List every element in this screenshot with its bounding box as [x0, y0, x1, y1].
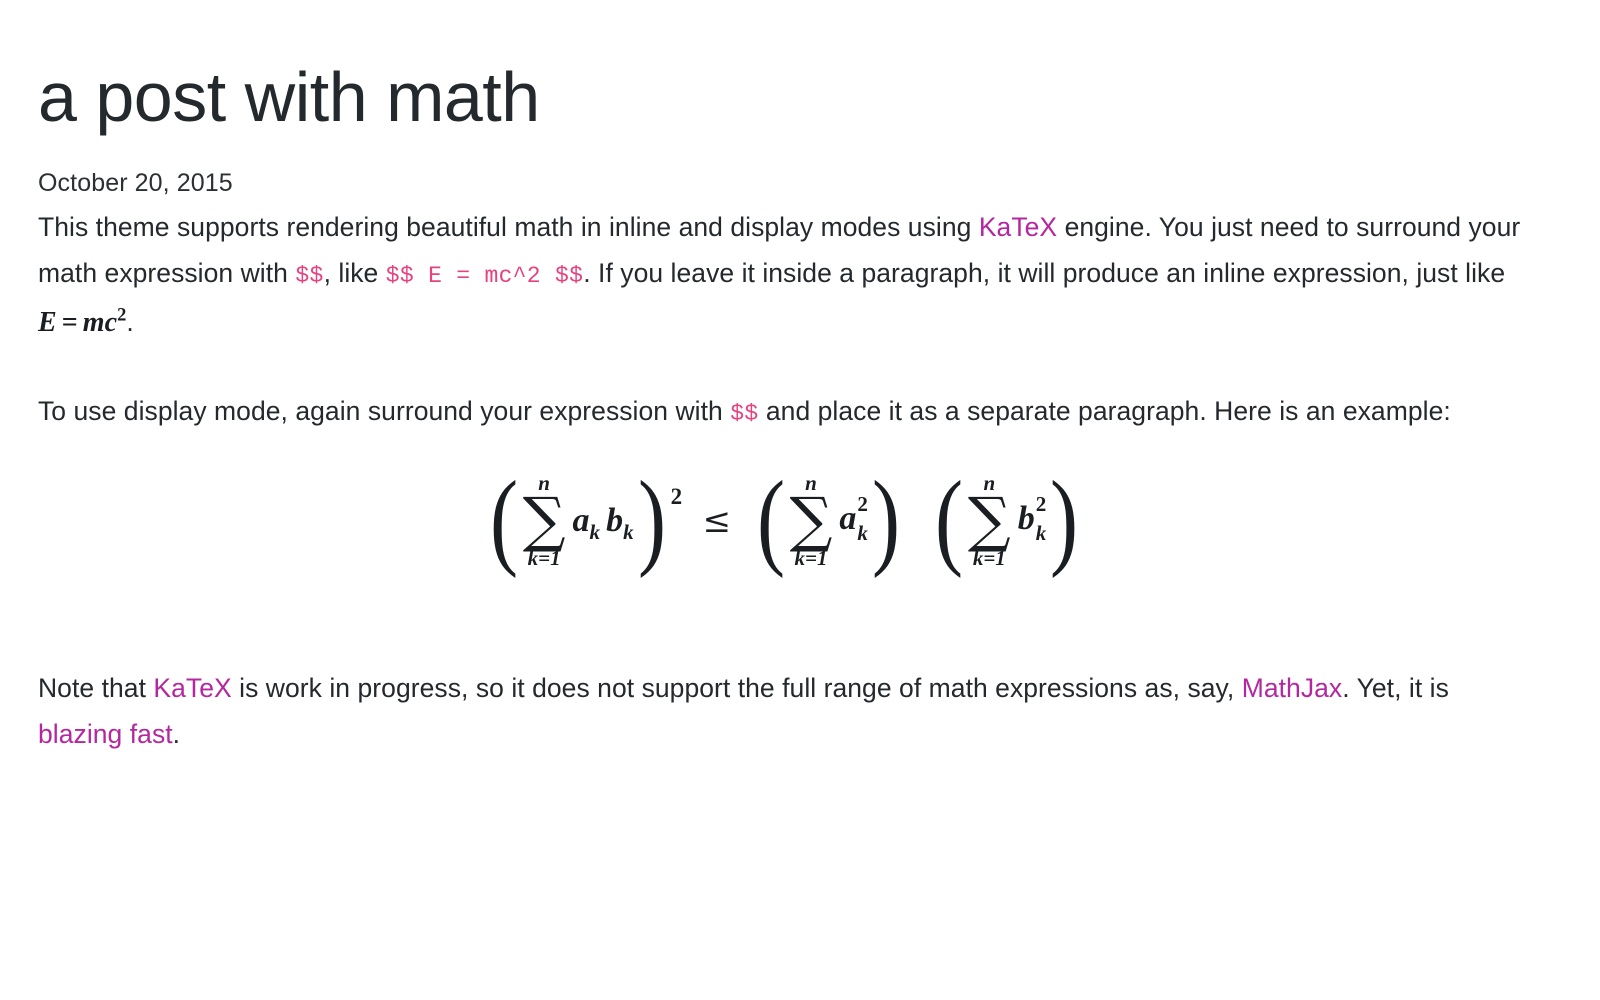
inline-math-mc: mc [83, 307, 117, 338]
display-math-cauchy-schwarz: ( n ∑ k=1 ak bk ) 2 ≤ ( n ∑ [486, 473, 1083, 569]
paragraph-intro-text-1: This theme supports rendering beautiful … [38, 212, 979, 242]
math-term-bk: bk [606, 504, 634, 538]
paragraph-intro-text-3: , like [324, 258, 386, 288]
math-term-a2k-base: a [839, 500, 856, 537]
code-dollar-delimiters: $$ [295, 263, 323, 289]
math-term-b-squared-k: b2k [1018, 500, 1047, 542]
paragraph-note-text-4: . [173, 719, 180, 749]
inline-math-emc2: E=mc2 [38, 300, 126, 346]
post-body: This theme supports rendering beautiful … [38, 198, 1530, 757]
math-term-ak: ak [573, 504, 601, 538]
math-right-paren-1: ) [638, 481, 666, 559]
math-term-a2k-sup: 2 [857, 494, 868, 515]
paragraph-display-text-1: To use display mode, again surround your… [38, 396, 730, 426]
sigma-icon: ∑ [523, 495, 566, 547]
link-blazing-fast[interactable]: blazing fast [38, 719, 173, 749]
paragraph-note-text-2: is work in progress, so it does not supp… [232, 673, 1242, 703]
link-katex-1[interactable]: KaTeX [979, 212, 1057, 242]
inline-math-equals: = [57, 307, 83, 338]
inline-math-E: E [38, 307, 57, 338]
math-term-b2k-sup: 2 [1036, 494, 1047, 515]
math-left-paren-2: ( [757, 481, 785, 559]
math-less-than-or-equal: ≤ [703, 501, 732, 541]
math-sum-2-lower: k=1 [795, 548, 828, 569]
math-term-b2k-scripts: 2k [1036, 500, 1047, 542]
math-sum-1: n ∑ k=1 [523, 473, 566, 569]
math-left-paren-3: ( [935, 481, 963, 559]
paragraph-display-text-2: and place it as a separate paragraph. He… [758, 396, 1450, 426]
math-right-paren-3: ) [1050, 481, 1078, 559]
sigma-icon: ∑ [790, 495, 833, 547]
math-group-1-exponent: 2 [671, 485, 683, 508]
math-group-3: ( n ∑ k=1 b2k ) [931, 473, 1082, 569]
math-group-1: ( n ∑ k=1 ak bk ) 2 [486, 473, 681, 569]
display-math-container: ( n ∑ k=1 ak bk ) 2 ≤ ( n ∑ [38, 473, 1530, 623]
paragraph-display-mode: To use display mode, again surround your… [38, 388, 1530, 437]
math-sum-1-lower: k=1 [528, 548, 561, 569]
math-sum-2: n ∑ k=1 [790, 473, 833, 569]
math-group-2: ( n ∑ k=1 a2k ) [753, 473, 904, 569]
paragraph-note-text-1: Note that [38, 673, 153, 703]
math-sum-3-lower: k=1 [973, 548, 1006, 569]
post-date: October 20, 2015 [38, 132, 1560, 198]
math-term-a2k-scripts: 2k [857, 500, 868, 542]
math-term-bk-sub: k [623, 520, 634, 544]
math-term-ak-base: a [573, 502, 590, 539]
paragraph-note-text-3: . Yet, it is [1342, 673, 1449, 703]
link-mathjax[interactable]: MathJax [1242, 673, 1343, 703]
paragraph-intro: This theme supports rendering beautiful … [38, 204, 1530, 346]
math-left-paren-1: ( [490, 481, 518, 559]
math-term-bk-base: b [606, 502, 623, 539]
math-term-b2k-sub: k [1036, 523, 1047, 544]
paragraph-intro-text-5: . [126, 307, 133, 337]
code-dollar-delimiters-2: $$ [730, 401, 758, 427]
math-term-a-squared-k: a2k [839, 500, 868, 542]
post-page: a post with math October 20, 2015 This t… [0, 0, 1600, 1000]
page-title: a post with math [38, 0, 1560, 132]
paragraph-note: Note that KaTeX is work in progress, so … [38, 665, 1530, 757]
inline-math-exponent: 2 [117, 305, 126, 325]
link-katex-2[interactable]: KaTeX [153, 673, 231, 703]
math-term-ak-sub: k [590, 520, 601, 544]
math-sum-3: n ∑ k=1 [968, 473, 1011, 569]
paragraph-intro-text-4: . If you leave it inside a paragraph, it… [583, 258, 1505, 288]
math-right-paren-2: ) [872, 481, 900, 559]
math-term-b2k-base: b [1018, 500, 1035, 537]
sigma-icon: ∑ [968, 495, 1011, 547]
code-emc2-snippet: $$ E = mc^2 $$ [386, 263, 583, 289]
math-term-a2k-sub: k [857, 523, 868, 544]
